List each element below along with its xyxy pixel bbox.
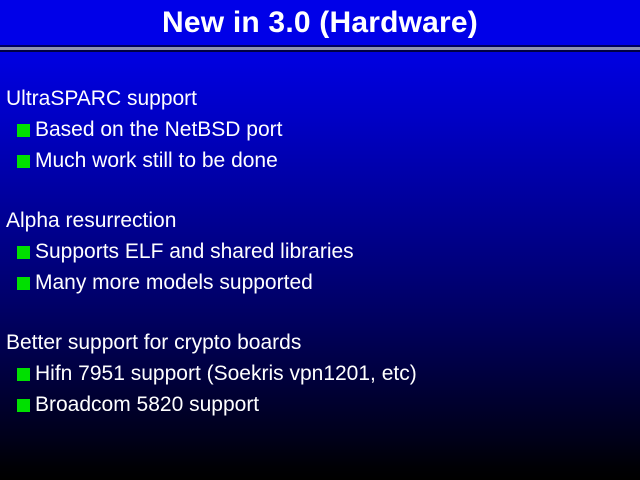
square-bullet-icon: [17, 124, 30, 137]
square-bullet-icon: [17, 246, 30, 259]
square-bullet-icon: [17, 155, 30, 168]
bullet-item: Hifn 7951 support (Soekris vpn1201, etc): [0, 358, 640, 389]
slide-title: New in 3.0 (Hardware): [162, 8, 478, 38]
presentation-slide: New in 3.0 (Hardware) UltraSPARC support…: [0, 0, 640, 480]
slide-header: New in 3.0 (Hardware): [0, 0, 640, 45]
square-bullet-icon: [17, 277, 30, 290]
bullet-item: Much work still to be done: [0, 145, 640, 176]
group-heading: Better support for crypto boards: [0, 327, 640, 358]
square-bullet-icon: [17, 368, 30, 381]
bullet-item: Many more models supported: [0, 267, 640, 298]
bullet-item-label: Based on the NetBSD port: [35, 114, 282, 145]
bullet-item: Broadcom 5820 support: [0, 389, 640, 420]
bullet-item-label: Broadcom 5820 support: [35, 389, 259, 420]
bullet-group: UltraSPARC support Based on the NetBSD p…: [0, 83, 640, 176]
bullet-item-label: Hifn 7951 support (Soekris vpn1201, etc): [35, 358, 417, 389]
bullet-group: Better support for crypto boards Hifn 79…: [0, 327, 640, 420]
group-heading: UltraSPARC support: [0, 83, 640, 114]
bullet-item: Supports ELF and shared libraries: [0, 236, 640, 267]
slide-body: UltraSPARC support Based on the NetBSD p…: [0, 52, 640, 480]
bullet-item-label: Many more models supported: [35, 267, 313, 298]
bullet-item-label: Supports ELF and shared libraries: [35, 236, 354, 267]
square-bullet-icon: [17, 399, 30, 412]
group-heading: Alpha resurrection: [0, 205, 640, 236]
bullet-content-list: UltraSPARC support Based on the NetBSD p…: [0, 83, 640, 420]
bullet-item-label: Much work still to be done: [35, 145, 278, 176]
bullet-group: Alpha resurrection Supports ELF and shar…: [0, 205, 640, 298]
bullet-item: Based on the NetBSD port: [0, 114, 640, 145]
